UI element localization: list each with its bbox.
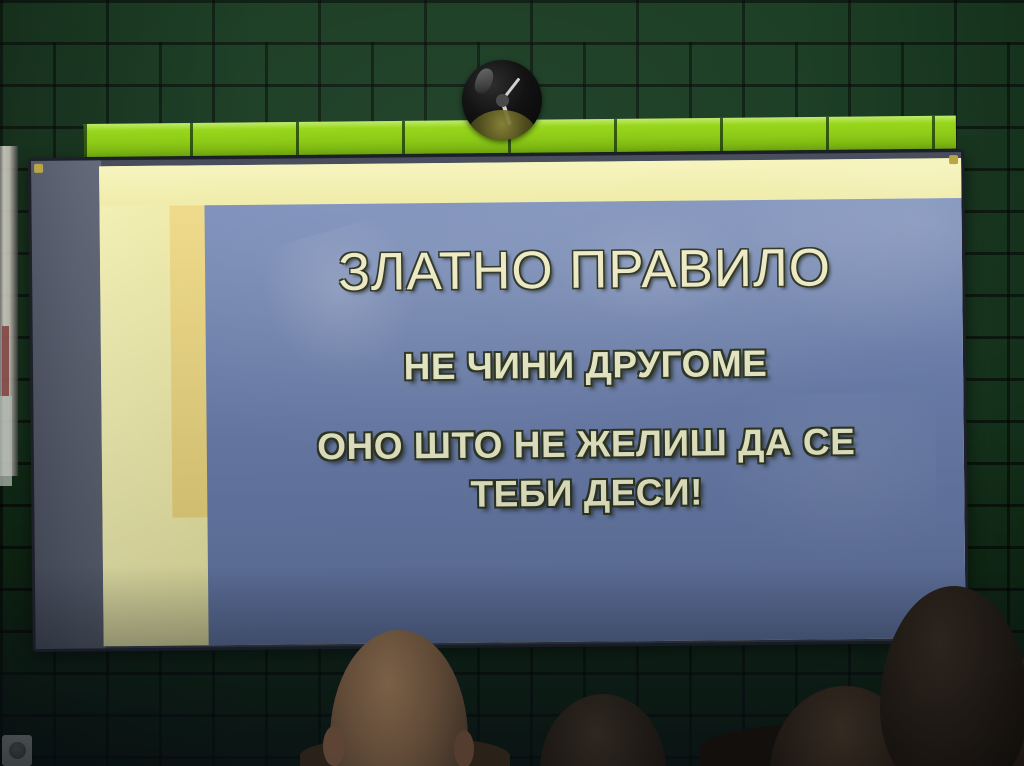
poster-white-detail [0,396,12,486]
classroom-scene: ЗЛАТНО ПРАВИЛО НЕ ЧИНИ ДРУГОМЕ ОНО ШТО Н… [0,0,1024,766]
student-head [880,586,1024,766]
board-corner-bracket-left [34,164,43,173]
slide-left-gold-band [169,165,208,517]
slide-body-line-3: ТЕБИ ДЕСИ! [318,468,856,518]
student-ear [323,726,345,766]
slide-body-line-1: НЕ ЧИНИ ДРУГОМЕ [316,340,854,390]
board-corner-bracket-right [949,155,958,164]
student-head [330,630,468,766]
slide-title: ЗЛАТНО ПРАВИЛО [338,237,831,303]
clock-glass-gloss [472,66,495,96]
clock-hub [496,94,509,107]
poster-red-detail [2,326,9,396]
partial-wall-poster [0,146,18,476]
slide-body-line-2: ОНО ШТО НЕ ЖЕЛИШ ДА СЕ [317,419,855,469]
student-head [540,694,666,766]
clock-glass-bulge [466,110,538,140]
clock-icon [462,60,542,140]
student-ear [454,730,474,766]
students-foreground [0,536,1024,766]
slide-body: НЕ ЧИНИ ДРУГОМЕ ОНО ШТО НЕ ЖЕЛИШ ДА СЕ Т… [316,340,856,519]
